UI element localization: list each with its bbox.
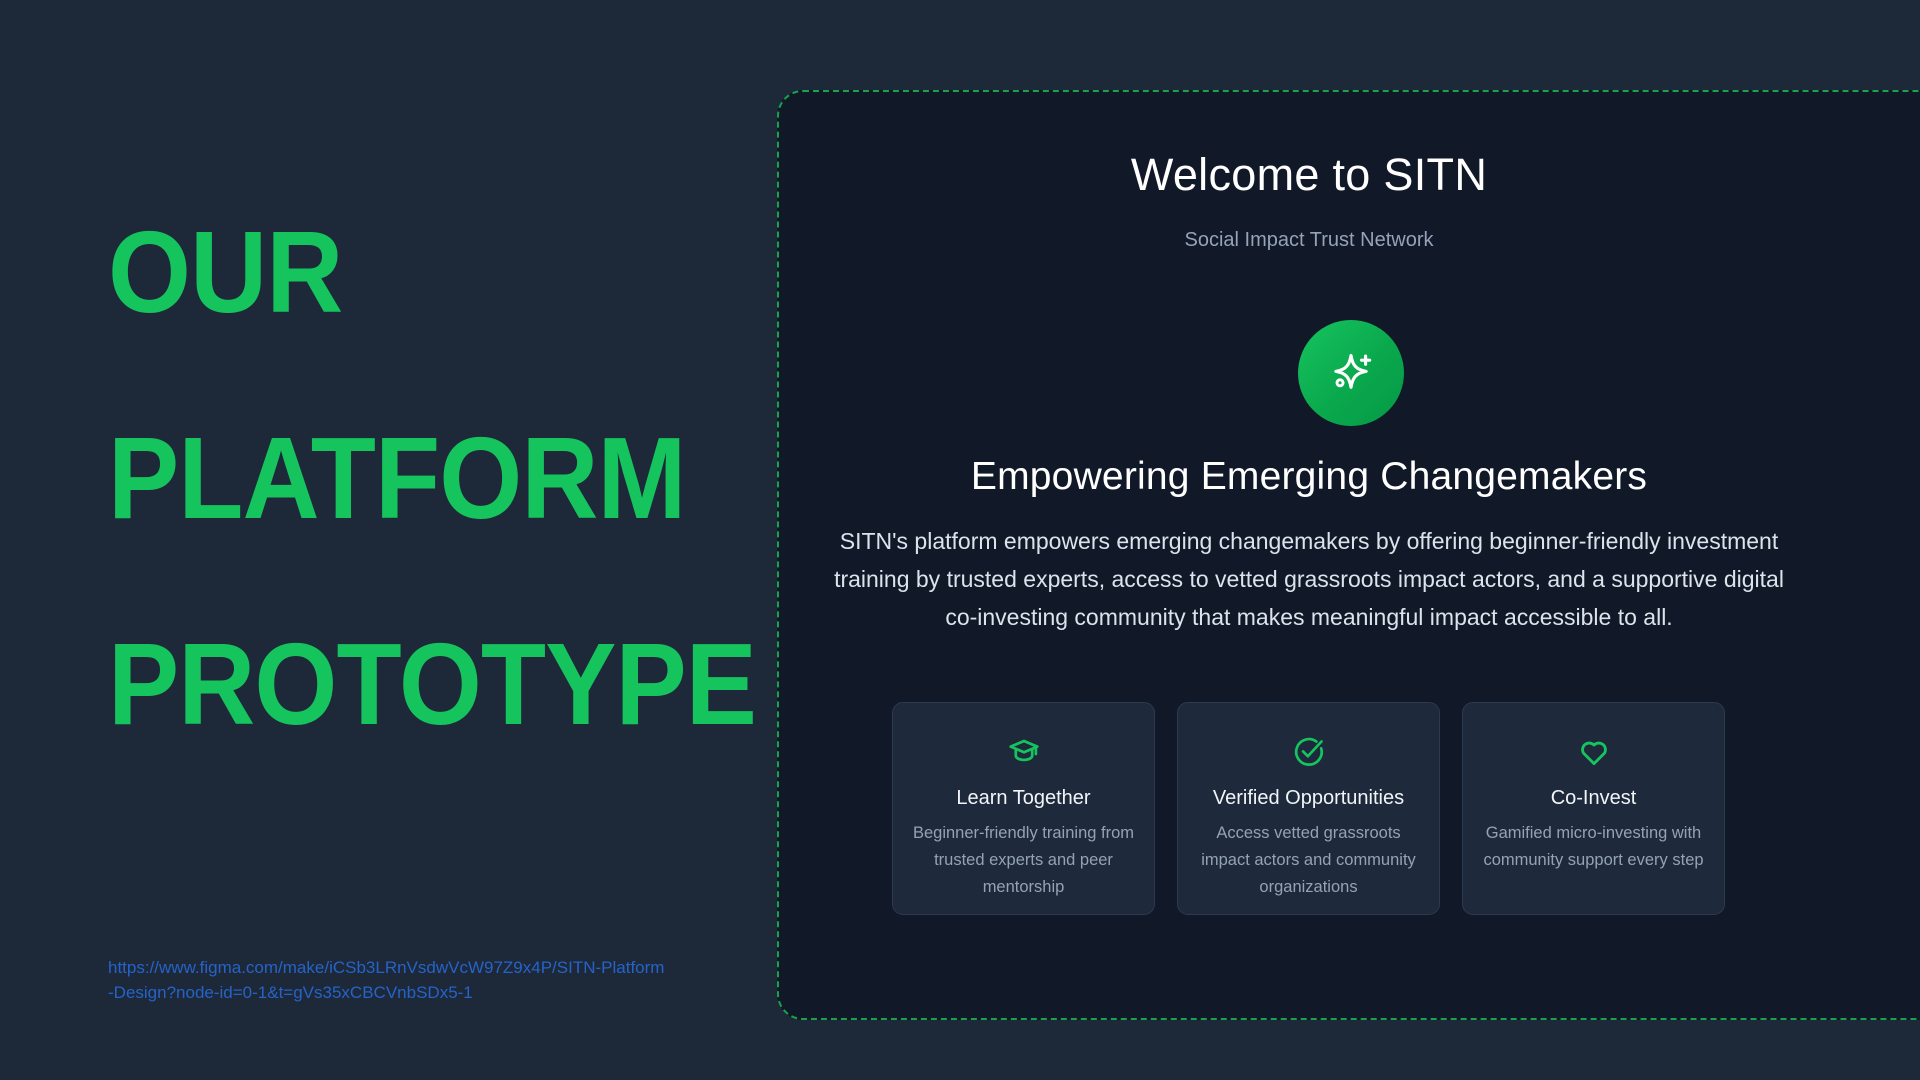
page-title: OUR PLATFORM PROTOTYPE bbox=[108, 118, 756, 839]
feature-card-description: Access vetted grassroots impact actors a… bbox=[1194, 820, 1423, 901]
prototype-frame: Welcome to SITN Social Impact Trust Netw… bbox=[777, 90, 1920, 1020]
graduation-cap-icon bbox=[909, 731, 1138, 773]
sparkles-icon bbox=[1298, 320, 1404, 426]
feature-card-title: Co-Invest bbox=[1479, 787, 1708, 810]
feature-cards-row: Learn Together Beginner-friendly trainin… bbox=[892, 702, 1727, 915]
headline-line-3: PROTOTYPE bbox=[108, 633, 756, 736]
welcome-subtitle: Social Impact Trust Network bbox=[779, 229, 1839, 252]
heart-icon bbox=[1479, 731, 1708, 773]
figma-prototype-link[interactable]: https://www.figma.com/make/iCSb3LRnVsdwV… bbox=[108, 955, 668, 1005]
feature-title: Empowering Emerging Changemakers bbox=[779, 455, 1839, 499]
feature-card-verified-opportunities[interactable]: Verified Opportunities Access vetted gra… bbox=[1177, 702, 1440, 915]
headline-line-2: PLATFORM bbox=[108, 427, 756, 530]
slide-left-panel: OUR PLATFORM PROTOTYPE https://www.figma… bbox=[0, 0, 780, 1080]
feature-card-learn-together[interactable]: Learn Together Beginner-friendly trainin… bbox=[892, 702, 1155, 915]
welcome-title: Welcome to SITN bbox=[779, 149, 1839, 201]
feature-card-description: Beginner-friendly training from trusted … bbox=[909, 820, 1138, 901]
prototype-content: Welcome to SITN Social Impact Trust Netw… bbox=[779, 92, 1839, 1018]
feature-card-title: Learn Together bbox=[909, 787, 1138, 810]
feature-card-co-invest[interactable]: Co-Invest Gamified micro-investing with … bbox=[1462, 702, 1725, 915]
feature-card-title: Verified Opportunities bbox=[1194, 787, 1423, 810]
circle-check-icon bbox=[1194, 731, 1423, 773]
headline-line-1: OUR bbox=[108, 221, 756, 324]
feature-paragraph: SITN's platform empowers emerging change… bbox=[824, 522, 1794, 636]
feature-card-description: Gamified micro-investing with community … bbox=[1479, 820, 1708, 874]
